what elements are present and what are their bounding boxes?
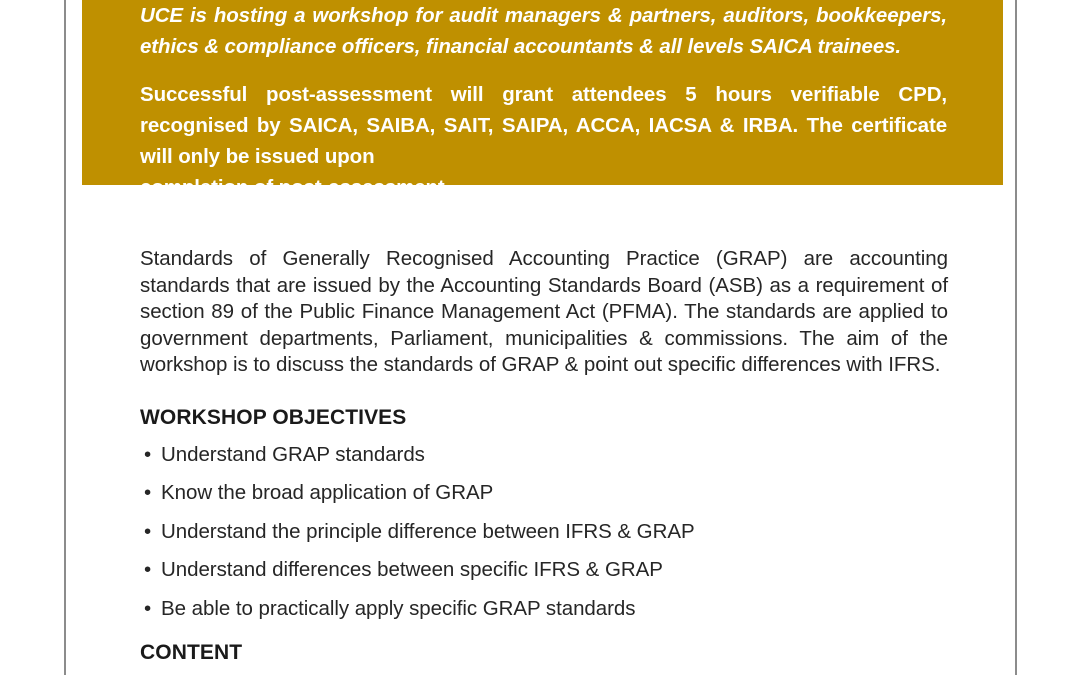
list-item-label: Be able to practically apply specific GR… — [161, 597, 635, 620]
list-item: • Understand the principle difference be… — [140, 519, 948, 545]
list-item-label: Know the broad application of GRAP — [161, 481, 493, 504]
bullet-icon: • — [144, 596, 151, 622]
callout-note-text: Successful post-assessment will grant at… — [140, 83, 947, 168]
list-item: • Understand differences between specifi… — [140, 557, 948, 583]
list-item: • Be able to practically apply specific … — [140, 596, 948, 622]
intro-paragraph: Standards of Generally Recognised Accoun… — [140, 246, 948, 379]
list-item: • Understand GRAP standards — [140, 442, 948, 468]
callout-lead-paragraph: UCE is hosting a workshop for audit mana… — [140, 0, 947, 62]
gold-callout-banner: UCE is hosting a workshop for audit mana… — [82, 0, 1003, 185]
bullet-icon: • — [144, 519, 151, 545]
callout-note-last-line: completion of post-assessment. — [140, 172, 947, 203]
bullet-icon: • — [144, 442, 151, 468]
document-page: UCE is hosting a workshop for audit mana… — [0, 0, 1080, 675]
list-item-label: Understand the principle difference betw… — [161, 520, 695, 543]
objectives-list: • Understand GRAP standards • Know the b… — [140, 442, 948, 622]
bullet-icon: • — [144, 480, 151, 506]
callout-note-paragraph: Successful post-assessment will grant at… — [140, 79, 947, 203]
list-item-label: Understand differences between specific … — [161, 558, 663, 581]
intro-paragraph-last-line: discuss the standards of GRAP & point ou… — [276, 353, 940, 376]
workshop-objectives-heading: WORKSHOP OBJECTIVES — [140, 405, 948, 431]
body-content: Standards of Generally Recognised Accoun… — [140, 246, 948, 666]
page-border-left — [64, 0, 66, 675]
list-item-label: Understand GRAP standards — [161, 443, 425, 466]
bullet-icon: • — [144, 557, 151, 583]
page-border-right — [1015, 0, 1017, 675]
content-heading: CONTENT — [140, 640, 948, 666]
list-item: • Know the broad application of GRAP — [140, 480, 948, 506]
